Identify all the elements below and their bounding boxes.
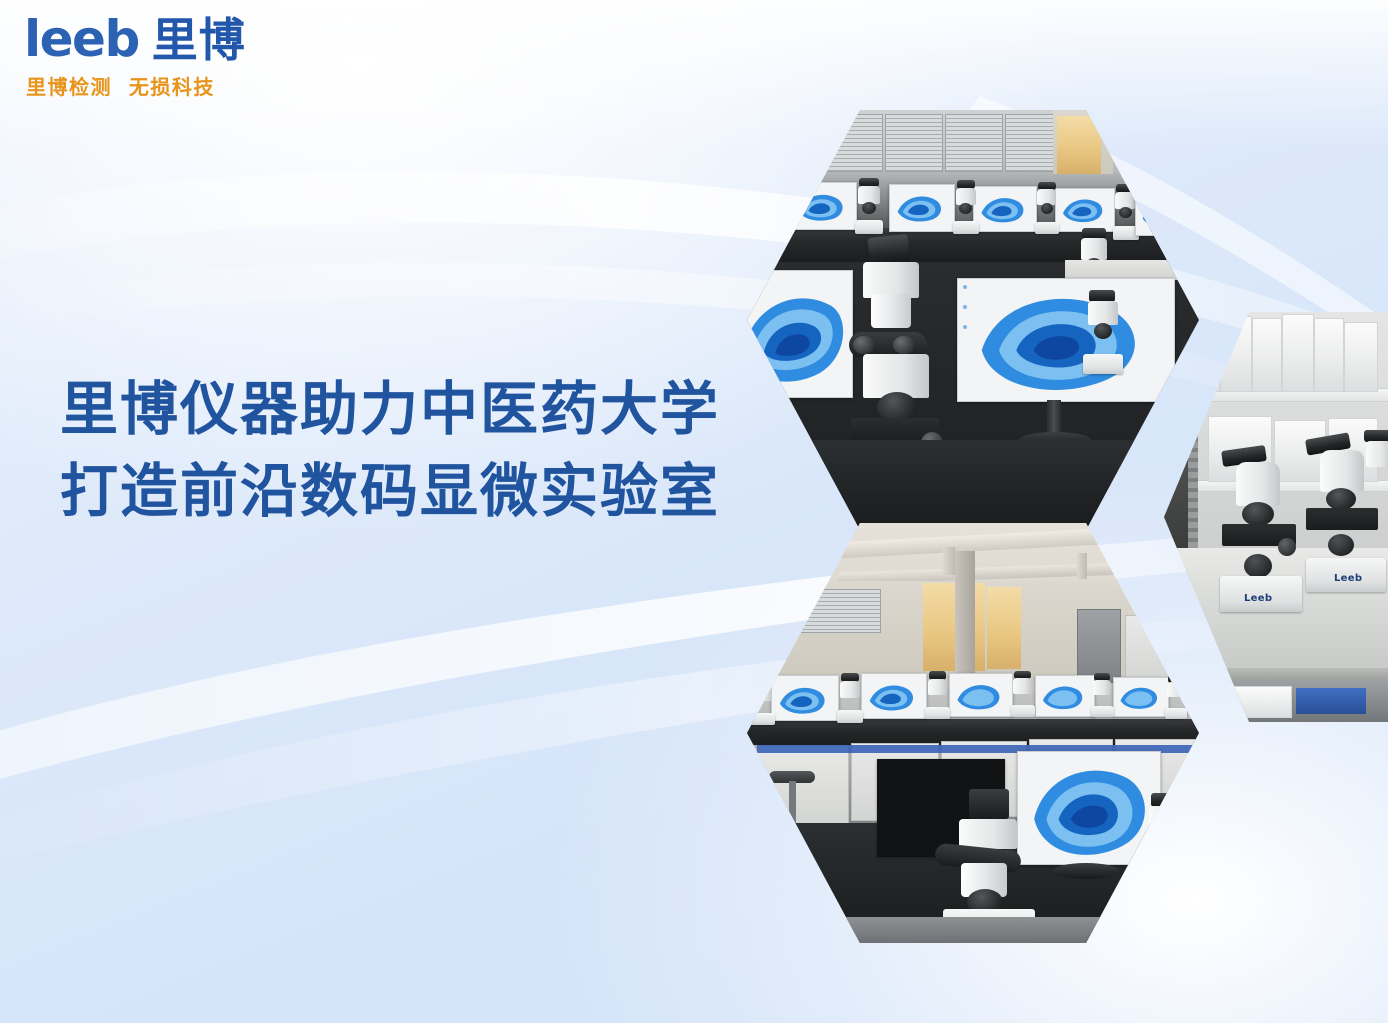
objective-turret xyxy=(1242,502,1274,526)
lab-scene-top: Leeb xyxy=(747,110,1199,530)
windows-bloom-wallpaper xyxy=(890,185,954,230)
objective-turret xyxy=(1119,207,1132,218)
microscope-row1 xyxy=(749,677,775,725)
lab-scene-bench-closeup: Leeb Leeb xyxy=(1164,312,1388,722)
right-bench-top xyxy=(1065,260,1199,280)
storage-box xyxy=(1200,686,1292,718)
scope-base xyxy=(1143,859,1191,883)
storage-box xyxy=(1314,318,1344,392)
scope-head xyxy=(1167,682,1184,697)
microscope-rear xyxy=(855,178,883,234)
monitor-rear xyxy=(889,184,955,232)
windows-bloom-wallpaper xyxy=(1036,676,1094,717)
windows-bloom-wallpaper xyxy=(1018,752,1160,864)
scope-base xyxy=(855,220,883,234)
scope-base xyxy=(1091,706,1114,717)
eyepiece xyxy=(1151,793,1181,807)
scope-base xyxy=(1011,705,1035,717)
scope-head xyxy=(1366,441,1388,467)
objective-turret xyxy=(1094,323,1112,339)
scope-arm xyxy=(871,294,911,328)
storage-box xyxy=(1282,314,1314,392)
focus-knob xyxy=(1278,538,1296,556)
condenser-knob xyxy=(1328,534,1354,556)
monitor-stand-foot xyxy=(1053,863,1119,879)
scope-head xyxy=(1149,806,1183,834)
scope-base xyxy=(925,707,950,719)
under-bench-cabinet xyxy=(757,745,849,825)
monitor-row1 xyxy=(949,673,1013,717)
scope-head xyxy=(1093,680,1111,695)
windows-bloom-wallpaper xyxy=(862,674,926,719)
eyepiece-lens-left xyxy=(853,336,875,354)
bench-shadow xyxy=(747,440,1199,530)
louvre-panel xyxy=(885,114,943,172)
scope-base xyxy=(749,713,775,725)
storage-box xyxy=(1252,318,1282,392)
microscope-row1 xyxy=(1091,673,1114,717)
scope-base xyxy=(1035,222,1059,234)
warm-window xyxy=(987,587,1021,669)
windows-bloom-wallpaper xyxy=(790,183,856,229)
photo-top-hexagon: Leeb xyxy=(747,110,1199,530)
microscope-partial-right xyxy=(1362,430,1388,500)
scope-head xyxy=(752,685,772,701)
photo-collage: Leeb xyxy=(0,0,1388,1023)
photo-bottom-hexagon xyxy=(747,523,1199,943)
warm-window xyxy=(923,583,985,671)
window-blinds xyxy=(769,589,881,633)
eyepiece-lens-right xyxy=(893,336,915,354)
louvre-panel xyxy=(765,114,823,172)
scope-head xyxy=(1081,238,1107,260)
windows-bloom-wallpaper xyxy=(1114,678,1168,716)
door xyxy=(1077,609,1121,683)
monitor-foreground-main xyxy=(957,278,1175,402)
eyepiece xyxy=(753,677,771,686)
louvre-panel xyxy=(1005,114,1055,172)
duct-drop xyxy=(1077,553,1087,579)
monitor-row1 xyxy=(771,675,839,721)
scope-head xyxy=(959,819,1017,849)
scope-base xyxy=(1165,708,1187,719)
scope-head xyxy=(1013,678,1032,694)
scope-head xyxy=(1088,301,1118,325)
floor xyxy=(747,917,1199,943)
specimen-stage xyxy=(1306,508,1378,530)
scope-head xyxy=(1236,462,1280,506)
cardboard-box xyxy=(1164,404,1186,462)
windows-bloom-wallpaper xyxy=(958,279,1174,398)
leeb-brand-label: Leeb xyxy=(1334,574,1362,584)
scope-head xyxy=(863,262,919,298)
objective-turret xyxy=(959,203,972,214)
louvre-panel xyxy=(825,114,883,172)
wall-cabinet xyxy=(1125,615,1173,683)
scope-base xyxy=(953,221,979,234)
objective-turret xyxy=(1326,488,1356,510)
monitor-row1 xyxy=(861,673,927,719)
microscope-row1 xyxy=(925,671,950,719)
camera-module xyxy=(969,789,1009,819)
duct-drop xyxy=(943,547,955,575)
rack-dark-opening xyxy=(1164,400,1188,550)
lab-scene-classroom xyxy=(747,523,1199,943)
microscope-right-foreground xyxy=(1083,290,1123,374)
stool-post xyxy=(789,781,796,827)
monitor-rear xyxy=(973,186,1037,232)
condenser-knob xyxy=(1244,554,1272,578)
microscope-row1 xyxy=(1165,675,1187,719)
blue-accent-item xyxy=(1296,688,1366,714)
louvre-panel xyxy=(945,114,1003,172)
microscope-row1 xyxy=(837,673,863,723)
marketing-banner: leeb 里博 里博检测 无损科技 里博仪器助力中医药大学 打造前沿数码显微实验… xyxy=(0,0,1388,1023)
photo-right-panel: Leeb Leeb xyxy=(1164,312,1388,722)
scope-head xyxy=(1320,450,1364,492)
microscope-rear xyxy=(1035,182,1059,234)
column xyxy=(955,551,975,675)
storage-box xyxy=(1220,316,1252,392)
monitor-rear xyxy=(1135,194,1193,236)
scope-base xyxy=(837,710,863,723)
windows-bloom-wallpaper xyxy=(950,674,1012,717)
microscope-closeup-left: Leeb xyxy=(1220,448,1302,612)
storage-box xyxy=(1190,320,1220,392)
scope-head xyxy=(928,679,947,695)
monitor-rear xyxy=(1055,188,1115,232)
monitor-row1 xyxy=(1113,677,1169,717)
windows-bloom-wallpaper xyxy=(1136,195,1192,234)
warm-window xyxy=(1057,116,1101,174)
windows-bloom-wallpaper xyxy=(974,187,1036,230)
windows-bloom-wallpaper xyxy=(772,676,838,721)
monitor-rear xyxy=(789,182,857,230)
objective-turret xyxy=(862,202,876,214)
windows-bloom-wallpaper xyxy=(747,271,852,398)
monitor-row1 xyxy=(1035,675,1095,717)
scope-base xyxy=(1083,354,1123,374)
microscope-row1 xyxy=(1011,671,1035,717)
scope-head xyxy=(840,681,860,698)
monitor-left-foreground xyxy=(747,270,853,398)
storage-box xyxy=(1344,322,1378,392)
microscope-rear xyxy=(953,180,979,234)
windows-bloom-wallpaper xyxy=(1056,189,1114,230)
leeb-brand-label: Leeb xyxy=(1244,594,1272,604)
objective-turret xyxy=(1041,203,1053,214)
monitor-stand xyxy=(1047,400,1061,436)
microscope-foreground-right xyxy=(1143,793,1191,883)
